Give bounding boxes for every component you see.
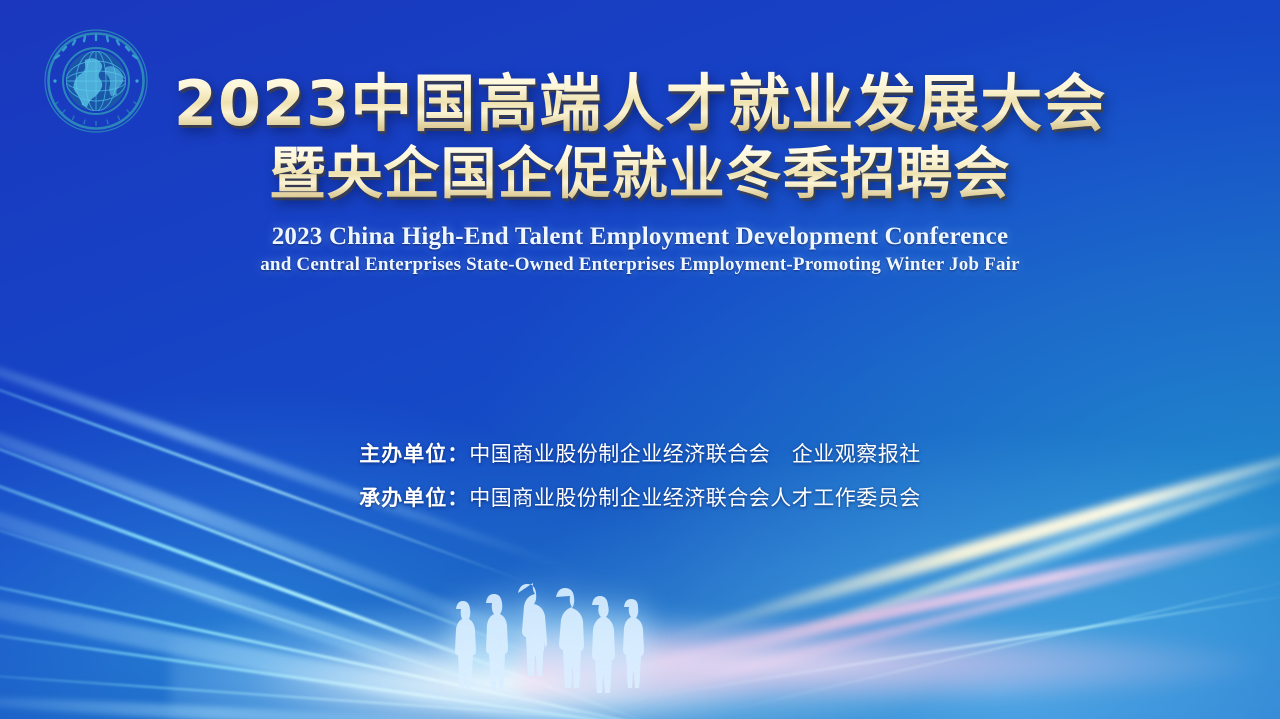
organizer-label-host: 主办单位： <box>359 442 469 466</box>
main-title-line2: 暨央企国企促就业冬季招聘会 <box>0 142 1280 208</box>
conference-banner: 2023中国高端人才就业发展大会 暨央企国企促就业冬季招聘会 2023 Chin… <box>0 0 1280 719</box>
people-silhouettes <box>440 567 660 697</box>
subtitle-line2: and Central Enterprises State-Owned Ente… <box>0 253 1280 277</box>
title-block: 2023中国高端人才就业发展大会 暨央企国企促就业冬季招聘会 2023 Chin… <box>0 68 1280 277</box>
organizer-label-undertaker: 承办单位： <box>359 486 469 510</box>
organizer-row-undertaker: 承办单位：中国商业股份制企业经济联合会人才工作委员会 <box>0 476 1280 520</box>
organizer-block: 主办单位：中国商业股份制企业经济联合会 企业观察报社 承办单位：中国商业股份制企… <box>0 432 1280 520</box>
organizer-value-host: 中国商业股份制企业经济联合会 企业观察报社 <box>469 442 921 466</box>
main-title-line1: 2023中国高端人才就业发展大会 <box>0 68 1280 140</box>
subtitle-line1: 2023 China High-End Talent Employment De… <box>0 222 1280 252</box>
organizer-row-host: 主办单位：中国商业股份制企业经济联合会 企业观察报社 <box>0 432 1280 476</box>
organizer-value-undertaker: 中国商业股份制企业经济联合会人才工作委员会 <box>469 486 921 510</box>
